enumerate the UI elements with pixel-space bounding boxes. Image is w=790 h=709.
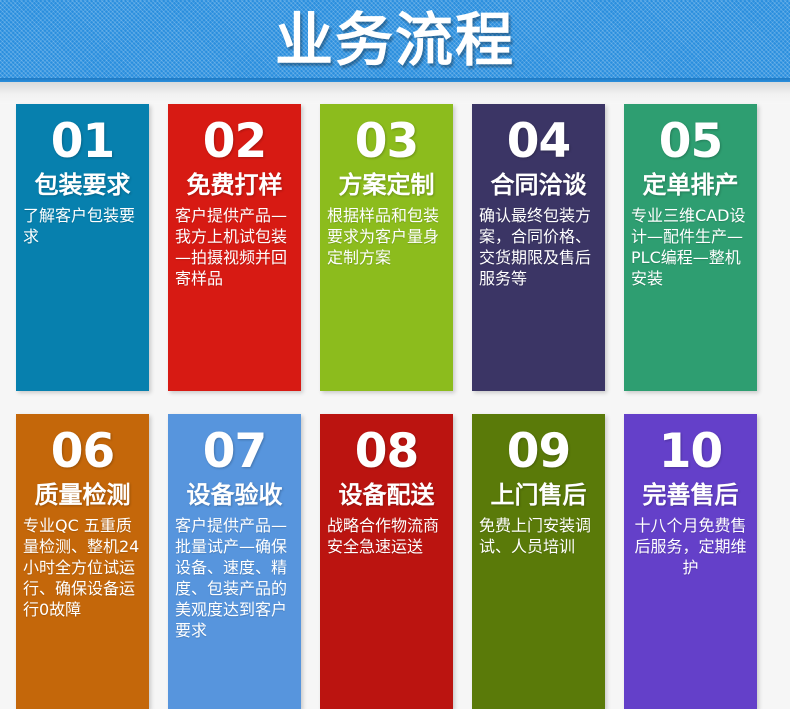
- process-card-05[interactable]: 05 定单排产 专业三维CAD设计—配件生产—PLC编程—整机安装: [624, 104, 757, 391]
- process-card-02[interactable]: 02 免费打样 客户提供产品—我方上机试包装—拍摄视频并回寄样品: [168, 104, 301, 391]
- card-title: 完善售后: [631, 480, 750, 510]
- process-card-08[interactable]: 08 设备配送 战略合作物流商安全急速运送: [320, 414, 453, 709]
- card-number: 10: [631, 426, 750, 478]
- card-number: 02: [175, 116, 294, 168]
- card-title: 包装要求: [23, 170, 142, 200]
- card-title: 质量检测: [23, 480, 142, 510]
- card-title: 合同洽谈: [479, 170, 598, 200]
- page-title: 业务流程: [0, 7, 790, 73]
- card-title: 上门售后: [479, 480, 598, 510]
- card-description: 确认最终包装方案，合同价格、交货期限及售后服务等: [479, 205, 598, 289]
- card-description: 免费上门安装调试、人员培训: [479, 515, 598, 557]
- card-description: 战略合作物流商安全急速运送: [327, 515, 446, 557]
- card-description: 根据样品和包装要求为客户量身定制方案: [327, 205, 446, 268]
- header-divider: [0, 82, 790, 104]
- card-title: 设备配送: [327, 480, 446, 510]
- process-card-06[interactable]: 06 质量检测 专业QC 五重质量检测、整机24小时全方位试运行、确保设备运行0…: [16, 414, 149, 709]
- process-card-10[interactable]: 10 完善售后 十八个月免费售后服务，定期维护: [624, 414, 757, 709]
- card-number: 04: [479, 116, 598, 168]
- card-description: 专业QC 五重质量检测、整机24小时全方位试运行、确保设备运行0故障: [23, 515, 142, 620]
- process-card-03[interactable]: 03 方案定制 根据样品和包装要求为客户量身定制方案: [320, 104, 453, 391]
- process-card-09[interactable]: 09 上门售后 免费上门安装调试、人员培训: [472, 414, 605, 709]
- page-header-banner: 业务流程: [0, 0, 790, 82]
- card-description: 了解客户包装要求: [23, 205, 142, 247]
- card-title: 方案定制: [327, 170, 446, 200]
- process-card-04[interactable]: 04 合同洽谈 确认最终包装方案，合同价格、交货期限及售后服务等: [472, 104, 605, 391]
- card-number: 09: [479, 426, 598, 478]
- card-title: 免费打样: [175, 170, 294, 200]
- card-number: 05: [631, 116, 750, 168]
- banner-underline: [0, 78, 790, 82]
- process-card-01[interactable]: 01 包装要求 了解客户包装要求: [16, 104, 149, 391]
- process-step-grid: 01 包装要求 了解客户包装要求 02 免费打样 客户提供产品—我方上机试包装—…: [0, 104, 790, 705]
- card-number: 08: [327, 426, 446, 478]
- card-number: 06: [23, 426, 142, 478]
- card-title: 设备验收: [175, 480, 294, 510]
- card-description: 客户提供产品—我方上机试包装—拍摄视频并回寄样品: [175, 205, 294, 289]
- process-card-07[interactable]: 07 设备验收 客户提供产品—批量试产—确保设备、速度、精度、包装产品的美观度达…: [168, 414, 301, 709]
- card-number: 01: [23, 116, 142, 168]
- card-description: 专业三维CAD设计—配件生产—PLC编程—整机安装: [631, 205, 750, 289]
- card-title: 定单排产: [631, 170, 750, 200]
- card-description: 十八个月免费售后服务，定期维护: [631, 515, 750, 578]
- card-description: 客户提供产品—批量试产—确保设备、速度、精度、包装产品的美观度达到客户要求: [175, 515, 294, 641]
- process-row-top: 01 包装要求 了解客户包装要求 02 免费打样 客户提供产品—我方上机试包装—…: [16, 104, 774, 391]
- card-number: 03: [327, 116, 446, 168]
- card-number: 07: [175, 426, 294, 478]
- process-row-bottom: 06 质量检测 专业QC 五重质量检测、整机24小时全方位试运行、确保设备运行0…: [16, 414, 774, 701]
